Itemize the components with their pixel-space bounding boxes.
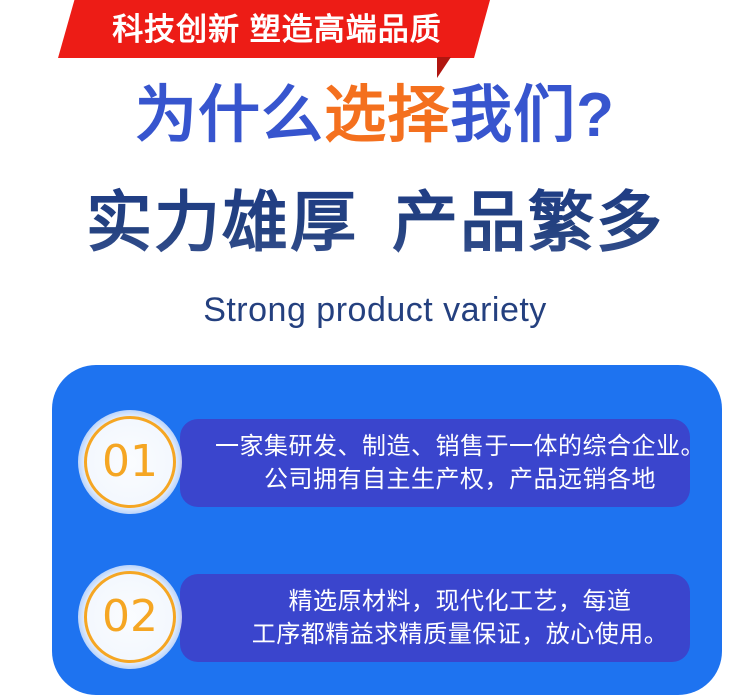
feature-number-text-01: 01 xyxy=(102,440,158,484)
banner-region: 科技创新 塑造高端品质 xyxy=(0,0,750,82)
feature-item-02: 精选原材料，现代化工艺，每道 工序都精益求精质量保证，放心使用。 02 xyxy=(52,565,722,675)
page-subtitle-cn-left: 实力雄厚 xyxy=(86,185,358,259)
page-title-part-3: 我们? xyxy=(450,81,615,150)
feature-item-01: 一家集研发、制造、销售于一体的综合企业。 公司拥有自主生产权，产品远销各地 01 xyxy=(52,410,722,520)
feature-text-pill-02: 精选原材料，现代化工艺，每道 工序都精益求精质量保证，放心使用。 xyxy=(180,574,690,662)
page-subtitle-en: Strong product variety xyxy=(0,291,750,330)
page-title-highlight: 选择 xyxy=(324,81,450,150)
feature-line-01-1: 一家集研发、制造、销售于一体的综合企业。 xyxy=(215,430,705,463)
feature-line-02-2: 工序都精益求精质量保证，放心使用。 xyxy=(252,618,669,651)
feature-number-ring-01: 01 xyxy=(84,416,176,508)
ribbon-banner: 科技创新 塑造高端品质 xyxy=(58,0,490,58)
page-subtitle-cn: 实力雄厚产品繁多 xyxy=(0,186,750,260)
feature-text-pill-01: 一家集研发、制造、销售于一体的综合企业。 公司拥有自主生产权，产品远销各地 xyxy=(180,419,690,507)
feature-number-ring-02: 02 xyxy=(84,571,176,663)
ribbon-banner-text: 科技创新 塑造高端品质 xyxy=(106,14,442,45)
page-title: 为什么选择我们? xyxy=(0,83,750,148)
feature-line-01-2: 公司拥有自主生产权，产品远销各地 xyxy=(264,463,656,496)
feature-number-text-02: 02 xyxy=(102,595,158,639)
feature-line-02-1: 精选原材料，现代化工艺，每道 xyxy=(289,585,632,618)
ribbon-tail-icon xyxy=(437,57,465,78)
feature-card: 一家集研发、制造、销售于一体的综合企业。 公司拥有自主生产权，产品远销各地 01… xyxy=(52,365,722,695)
feature-number-badge-01: 01 xyxy=(78,410,182,514)
page-subtitle-cn-right: 产品繁多 xyxy=(392,185,664,259)
feature-number-badge-02: 02 xyxy=(78,565,182,669)
page-title-part-1: 为什么 xyxy=(135,81,324,150)
